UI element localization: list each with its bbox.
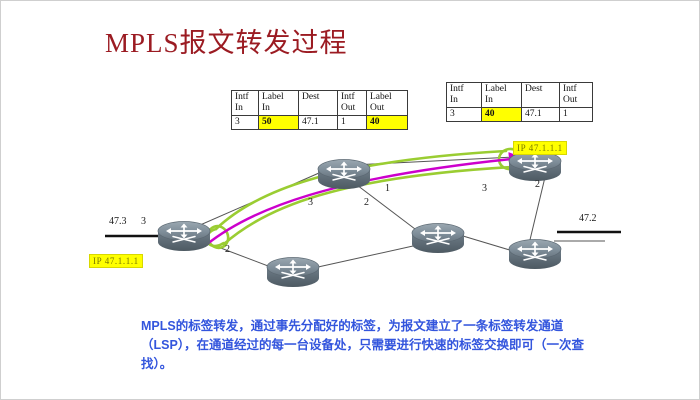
router-left-edge xyxy=(158,222,210,252)
router-right-bottom xyxy=(509,240,561,270)
interface-label-mid-in: 3 xyxy=(308,197,313,208)
header-dest: Dest xyxy=(299,91,338,116)
ip-packet-label-right: IP 47.1.1.1 xyxy=(513,141,567,155)
header-intf-out: IntfOut xyxy=(338,91,367,116)
cell-intf-out: 1 xyxy=(560,108,593,122)
subnet-label-right: 47.2 xyxy=(579,213,597,224)
header-dest: Dest xyxy=(522,83,560,108)
cell-dest: 47.1 xyxy=(299,116,338,130)
table-header-row: IntfIn LabelIn Dest IntfOut xyxy=(447,83,593,108)
cell-intf-in: 3 xyxy=(232,116,259,130)
header-label-out: LabelOut xyxy=(367,91,408,116)
header-intf-in: IntfIn xyxy=(232,91,259,116)
cell-intf-in: 3 xyxy=(447,108,482,122)
interface-label-mid-two: 2 xyxy=(364,197,369,208)
ip-packet-label-left: IP 47.1.1.1 xyxy=(89,254,143,268)
router-bottom-left xyxy=(267,258,319,288)
table-row: 3 40 47.1 1 xyxy=(447,108,593,122)
subnet-label-left: 47.3 xyxy=(109,216,127,227)
cell-label-in: 50 xyxy=(259,116,299,130)
cell-intf-out: 1 xyxy=(338,116,367,130)
router-mid-bottom xyxy=(412,224,464,254)
cell-label-in: 40 xyxy=(482,108,522,122)
router-right-edge xyxy=(509,152,561,182)
table-row: 3 50 47.1 1 40 xyxy=(232,116,408,130)
lfib-table-left: IntfIn LabelIn Dest IntfOut LabelOut 3 5… xyxy=(231,90,408,130)
table-header-row: IntfIn LabelIn Dest IntfOut LabelOut xyxy=(232,91,408,116)
header-label-in: LabelIn xyxy=(259,91,299,116)
interface-label-left-in: 3 xyxy=(141,216,146,227)
interface-label-mid-one: 1 xyxy=(385,183,390,194)
router-mid-top xyxy=(318,160,370,190)
cell-label-out: 40 xyxy=(367,116,408,130)
cell-dest: 47.1 xyxy=(522,108,560,122)
header-intf-in: IntfIn xyxy=(447,83,482,108)
lfib-table-right: IntfIn LabelIn Dest IntfOut 3 40 47.1 1 xyxy=(446,82,593,122)
slide-canvas: MPLS报文转发过程 xyxy=(0,0,700,400)
explanation-note: MPLS的标签转发，通过事先分配好的标签，为报文建立了一条标签转发通道（LSP）… xyxy=(141,317,586,374)
interface-label-right-in: 3 xyxy=(482,183,487,194)
header-label-in: LabelIn xyxy=(482,83,522,108)
interface-label-right-two: 2 xyxy=(535,179,540,190)
interface-label-left-out: 2 xyxy=(225,244,230,255)
header-intf-out: IntfOut xyxy=(560,83,593,108)
